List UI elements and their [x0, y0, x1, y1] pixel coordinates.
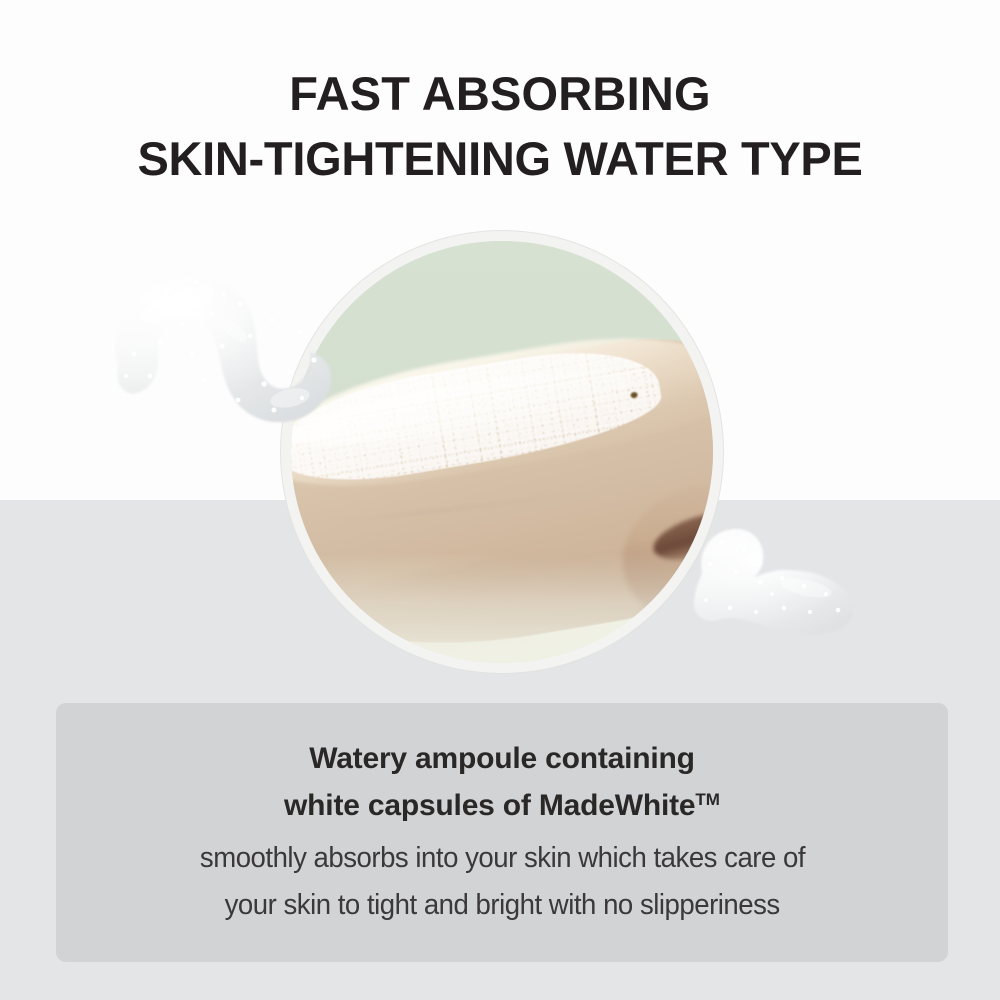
caption-body-line-2: your skin to tight and bright with no sl… — [224, 882, 779, 929]
gel-texture-swatch-right — [686, 516, 868, 640]
caption-card: Watery ampoule containing white capsules… — [56, 703, 948, 962]
hero-photo-circle — [291, 241, 713, 663]
headline: FAST ABSORBING SKIN-TIGHTENING WATER TYP… — [0, 62, 1000, 192]
hand-mole — [630, 391, 638, 398]
headline-line-1: FAST ABSORBING — [0, 62, 1000, 127]
caption-text-block: Watery ampoule containing white capsules… — [56, 703, 948, 962]
trademark-symbol: TM — [695, 790, 720, 809]
caption-brand-text: white capsules of MadeWhite — [284, 789, 695, 822]
product-feature-page: FAST ABSORBING SKIN-TIGHTENING WATER TYP… — [0, 0, 1000, 1000]
hero-photo-bottom-fade — [291, 553, 713, 663]
caption-bold-line-2: white capsules of MadeWhiteTM — [284, 783, 720, 830]
caption-bold-line-1: Watery ampoule containing — [309, 736, 695, 783]
caption-body-line-1: smoothly absorbs into your skin which ta… — [199, 835, 804, 882]
headline-line-2: SKIN-TIGHTENING WATER TYPE — [0, 127, 1000, 192]
gel-texture-swatch-left — [104, 228, 340, 464]
